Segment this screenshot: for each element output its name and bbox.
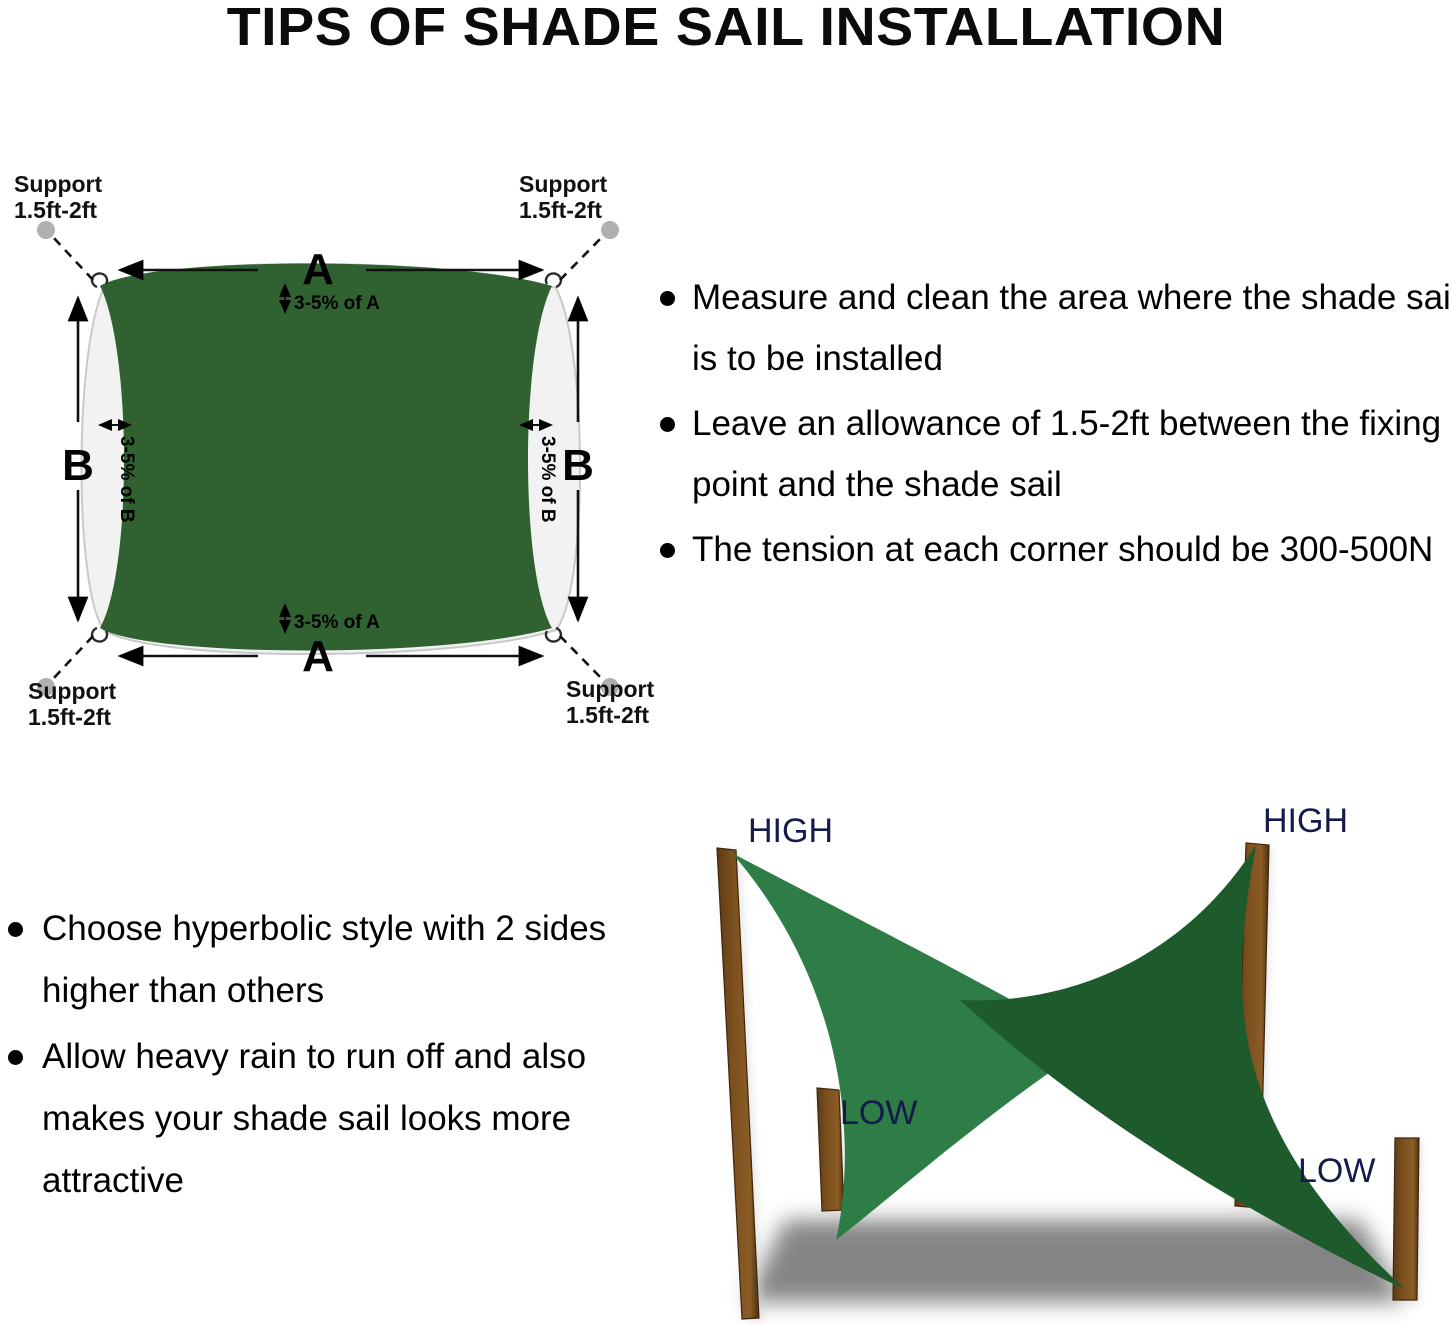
shade-sail-dimension-diagram: A 3-5% of A A 3-5% of A B 3-5% of B bbox=[0, 160, 660, 740]
support-top-left-line1: Support bbox=[14, 171, 102, 197]
label-curve-left: 3-5% of B bbox=[116, 436, 137, 523]
list-item: Leave an allowance of 1.5-2ft between th… bbox=[648, 393, 1452, 515]
cable-bottom-left bbox=[52, 636, 93, 680]
tip-text: Allow heavy rain to run off and also mak… bbox=[42, 1037, 586, 1200]
list-item: Measure and clean the area where the sha… bbox=[648, 267, 1452, 389]
support-bottom-left-line2: 1.5ft-2ft bbox=[28, 704, 111, 730]
support-top-right-line1: Support bbox=[519, 171, 607, 197]
label-curve-right: 3-5% of B bbox=[537, 436, 558, 523]
list-item: The tension at each corner should be 300… bbox=[648, 519, 1452, 580]
label-curve-bottom: 3-5% of A bbox=[294, 612, 380, 633]
support-bottom-right-line1: Support bbox=[566, 676, 654, 702]
support-top-right-line2: 1.5ft-2ft bbox=[519, 197, 602, 223]
cable-top-right bbox=[560, 236, 603, 280]
sail-green-shape bbox=[100, 264, 552, 651]
hyperbolic-shade-sail-illustration: HIGH HIGH LOW LOW bbox=[660, 790, 1452, 1325]
label-high-left: HIGH bbox=[748, 812, 833, 850]
cable-top-left bbox=[52, 236, 93, 280]
support-top-left-line2: 1.5ft-2ft bbox=[14, 197, 97, 223]
label-a-bottom: A bbox=[302, 632, 334, 681]
cable-bottom-right bbox=[560, 636, 603, 680]
list-item: Allow heavy rain to run off and also mak… bbox=[0, 1026, 640, 1212]
tip-text: Measure and clean the area where the sha… bbox=[692, 278, 1452, 378]
label-high-right: HIGH bbox=[1263, 802, 1348, 840]
support-dot-top-left bbox=[37, 221, 55, 239]
tip-text: The tension at each corner should be 300… bbox=[692, 530, 1433, 569]
label-a-top: A bbox=[302, 245, 334, 294]
post-low-right bbox=[1393, 1138, 1422, 1302]
tips-list-bottom: Choose hyperbolic style with 2 sides hig… bbox=[0, 898, 640, 1216]
support-bottom-right-line2: 1.5ft-2ft bbox=[566, 702, 649, 728]
list-item: Choose hyperbolic style with 2 sides hig… bbox=[0, 898, 640, 1022]
label-low-left: LOW bbox=[840, 1094, 917, 1132]
tip-text: Leave an allowance of 1.5-2ft between th… bbox=[692, 404, 1441, 504]
post-high-left bbox=[717, 848, 763, 1321]
label-b-right: B bbox=[562, 441, 594, 490]
page-title: TIPS OF SHADE SAIL INSTALLATION bbox=[0, 0, 1452, 56]
tip-text: Choose hyperbolic style with 2 sides hig… bbox=[42, 909, 606, 1010]
tips-list-top: Measure and clean the area where the sha… bbox=[648, 267, 1452, 584]
support-dot-top-right bbox=[601, 221, 619, 239]
label-low-right: LOW bbox=[1298, 1152, 1375, 1190]
label-b-left: B bbox=[62, 441, 94, 490]
label-curve-top: 3-5% of A bbox=[294, 293, 380, 314]
support-bottom-left-line1: Support bbox=[28, 678, 116, 704]
